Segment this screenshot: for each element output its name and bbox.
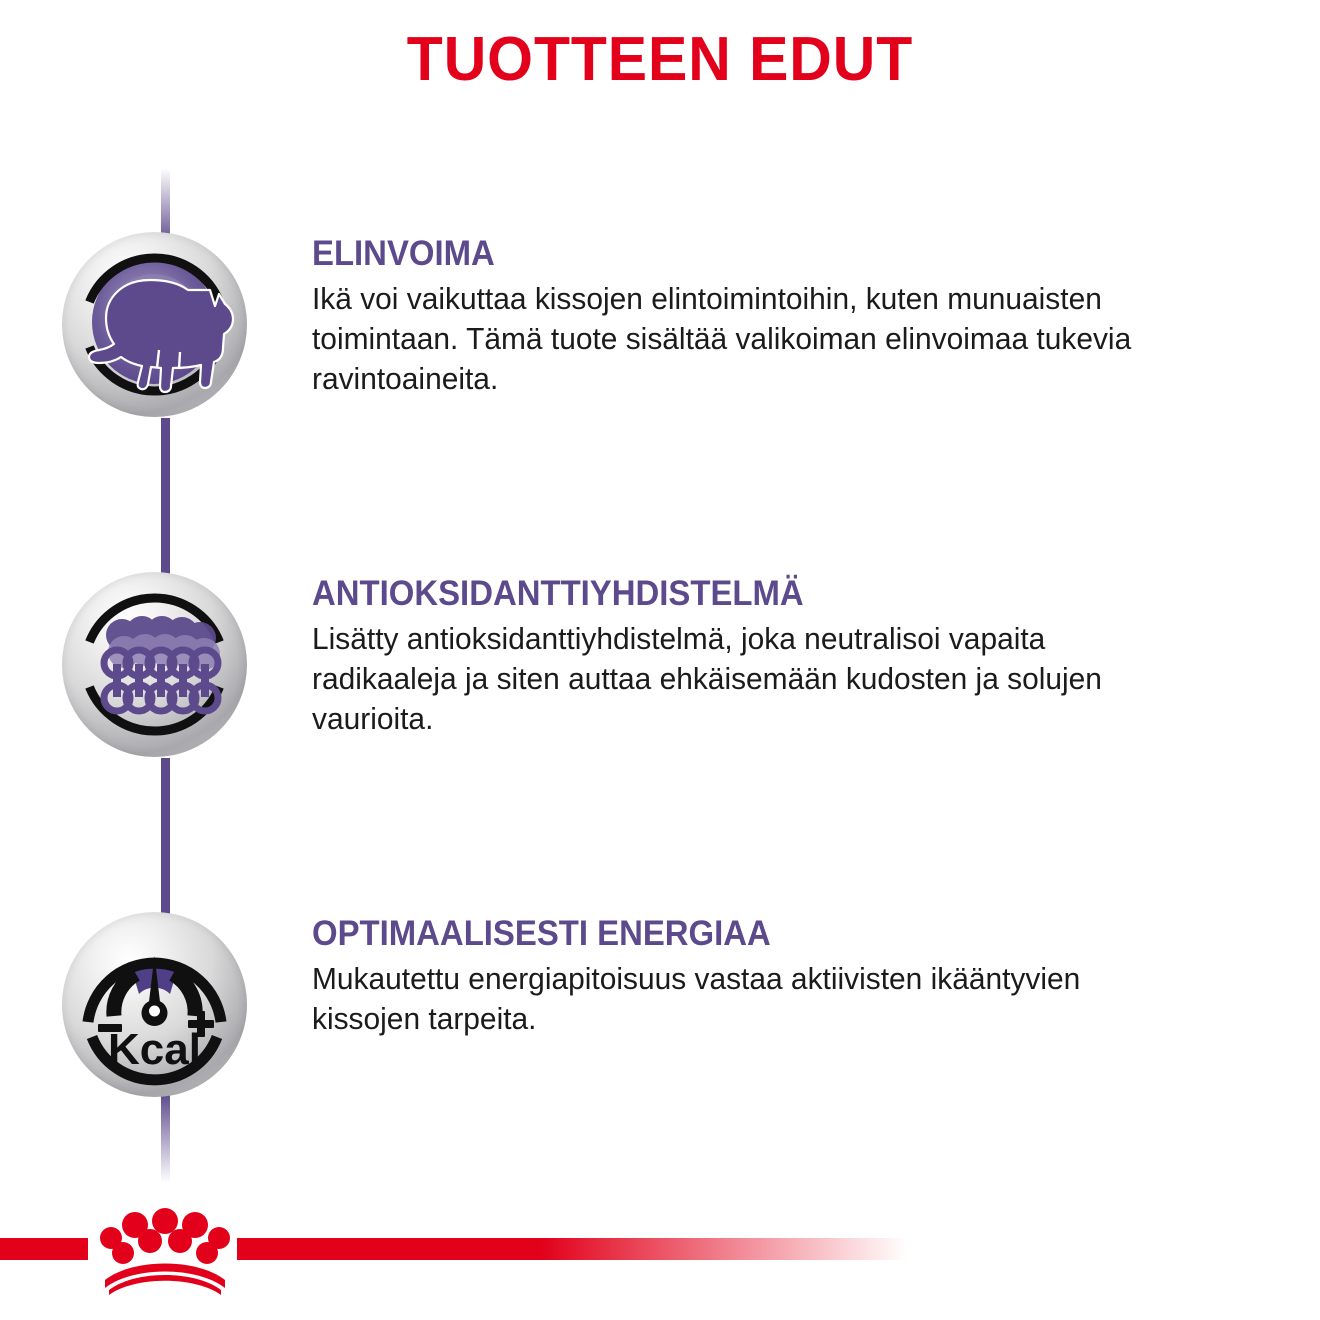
benefit-body: Mukautettu energiapitoisuus vastaa aktii… [312,959,1152,1040]
benefit-text-block: ANTIOKSIDANTTIYHDISTELMÄ Lisätty antioks… [312,576,1212,740]
product-benefits-page: TUOTTEEN EDUT [0,0,1320,1320]
benefit-text-block: ELINVOIMA Ikä voi vaikuttaa kissojen eli… [312,236,1212,400]
benefit-heading: ANTIOKSIDANTTIYHDISTELMÄ [312,576,1158,613]
footer-bar-right [237,1238,1320,1260]
benefit-text-block: OPTIMAALISESTI ENERGIAA Mukautettu energ… [312,916,1212,1039]
timeline-spine-bottom [161,1093,170,1203]
benefit-body: Ikä voi vaikuttaa kissojen elintoimintoi… [312,279,1152,400]
benefit-body: Lisätty antioksidanttiyhdistelmä, joka n… [312,619,1152,740]
royal-canin-crown-logo [95,1208,235,1296]
cat-vitality-icon [62,232,247,417]
kcal-gauge-icon: Kcal [62,912,247,1097]
gauge-kcal-label: Kcal [108,1025,201,1074]
antioxidant-molecules-icon [62,572,247,757]
benefit-heading: ELINVOIMA [312,236,1158,273]
benefit-heading: OPTIMAALISESTI ENERGIAA [312,916,1158,953]
footer-bar-left [0,1238,88,1260]
page-title: TUOTTEEN EDUT [33,24,1287,95]
footer [0,1202,1320,1320]
